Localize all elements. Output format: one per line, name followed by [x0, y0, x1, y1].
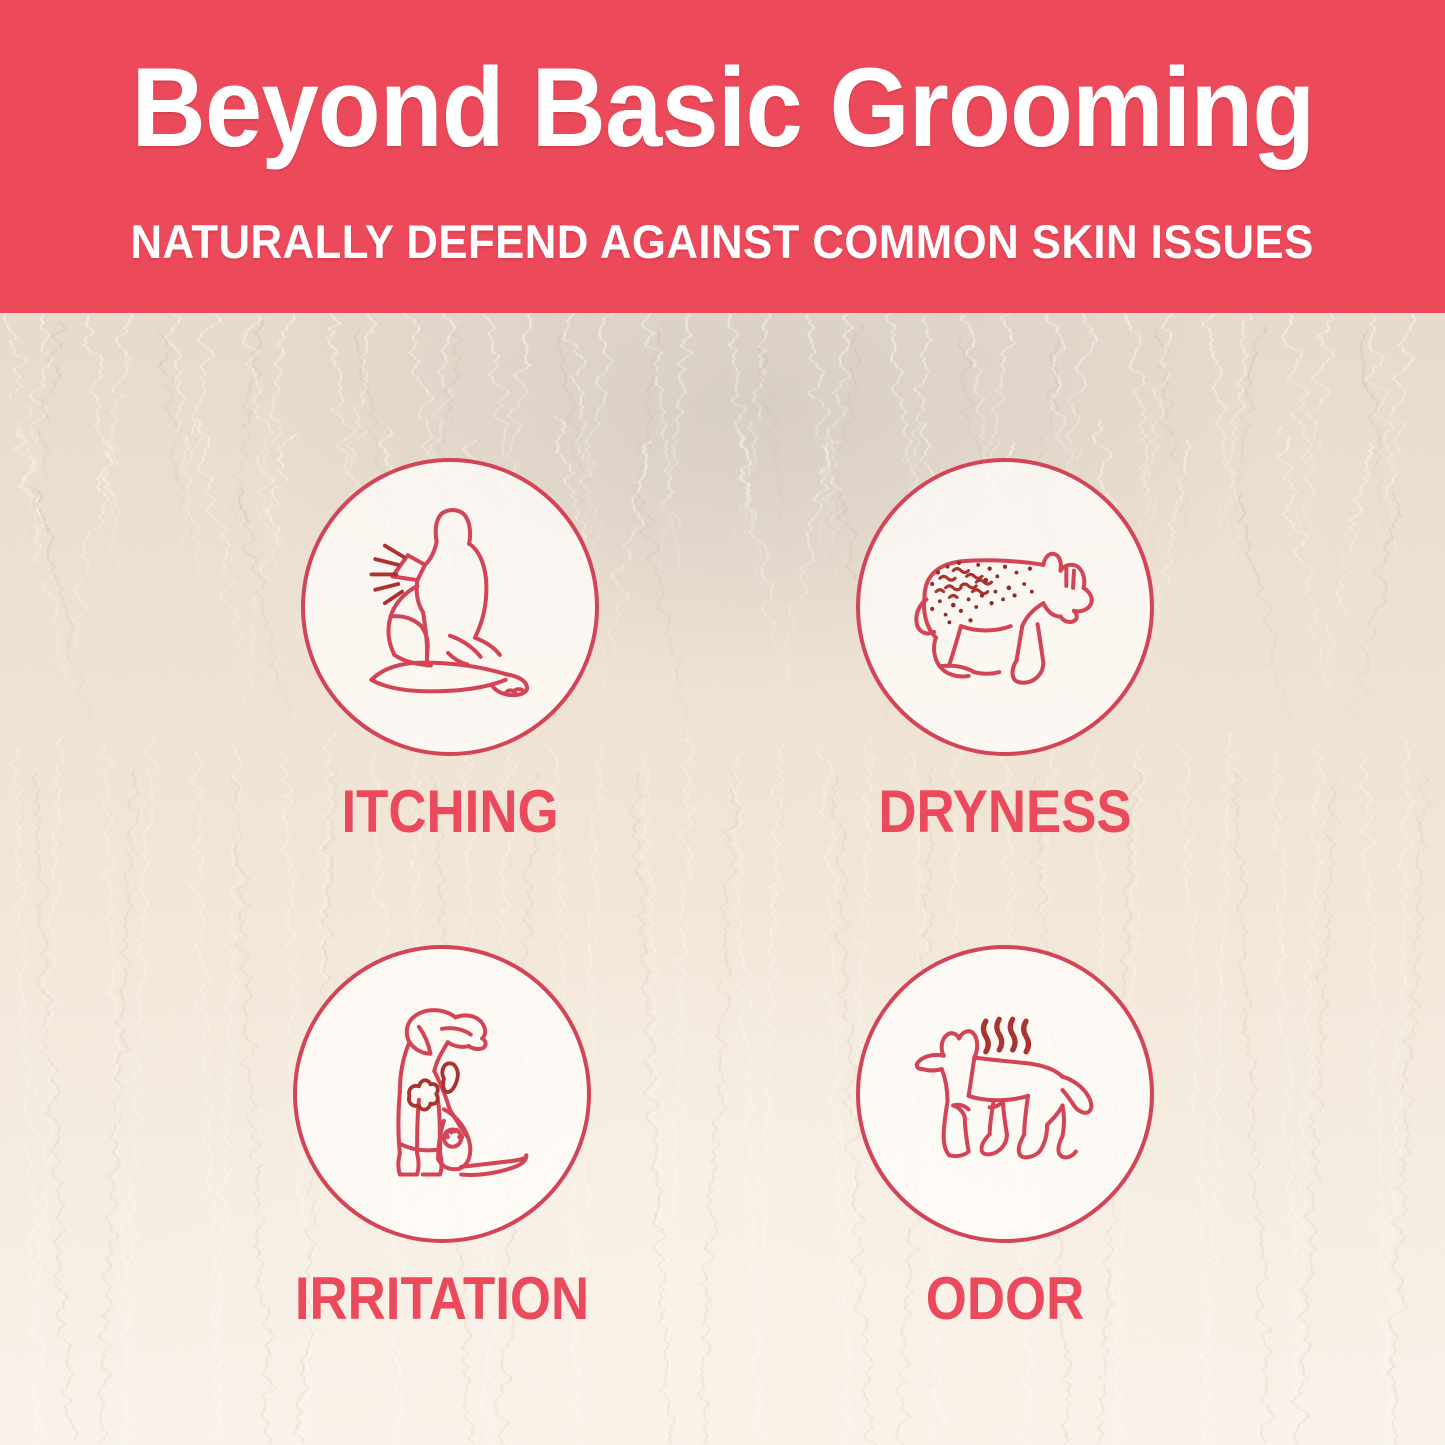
tile-label-dryness: DRYNESS	[855, 782, 1154, 842]
skin-issue-grid: ITCHING	[0, 313, 1445, 1445]
header-banner: Beyond Basic Grooming NATURALLY DEFEND A…	[0, 0, 1445, 313]
irritation-circle	[293, 945, 591, 1243]
tile-irritation[interactable]: IRRITATION	[272, 945, 612, 1329]
dog-scratching-icon	[335, 492, 565, 722]
tile-label-itching: ITCHING	[300, 782, 599, 842]
tile-label-odor: ODOR	[855, 1269, 1154, 1329]
page-subtitle: NATURALLY DEFEND AGAINST COMMON SKIN ISS…	[131, 218, 1314, 265]
itching-circle	[301, 458, 599, 756]
itch-lines	[371, 546, 404, 604]
dandruff-squiggles	[936, 569, 992, 598]
dog-dandruff-flakes-icon	[890, 492, 1120, 722]
tile-label-irritation: IRRITATION	[292, 1269, 591, 1329]
dryness-circle	[856, 458, 1154, 756]
infographic-page: Beyond Basic Grooming NATURALLY DEFEND A…	[0, 0, 1445, 1445]
odor-wave-lines	[983, 1019, 1028, 1052]
tile-odor[interactable]: ODOR	[835, 945, 1175, 1329]
dog-irritated-patches-icon	[327, 979, 557, 1209]
page-title: Beyond Basic Grooming	[131, 52, 1314, 164]
tile-dryness[interactable]: DRYNESS	[835, 458, 1175, 842]
tile-itching[interactable]: ITCHING	[280, 458, 620, 842]
dog-odor-waves-icon	[890, 979, 1120, 1209]
odor-circle	[856, 945, 1154, 1243]
